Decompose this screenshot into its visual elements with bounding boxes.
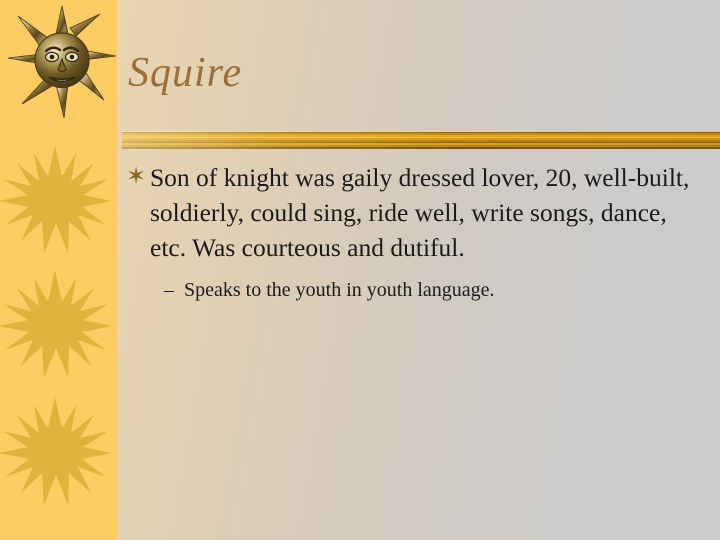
six-point-star-bullet-icon: ✶ [126, 160, 150, 195]
presentation-slide: Squire ✶ Son of knight was gaily dressed… [0, 0, 720, 540]
sub-bullet-item: – Speaks to the youth in youth language. [126, 275, 706, 305]
slide-title: Squire [128, 42, 688, 104]
sun-watermark-icon [0, 133, 117, 263]
sun-face-icon [6, 4, 118, 120]
sun-watermark-icon [0, 385, 117, 515]
sun-watermark-icon [0, 258, 117, 388]
slide-body: ✶ Son of knight was gaily dressed lover,… [126, 160, 706, 305]
sub-bullet-text: Speaks to the youth in youth language. [184, 275, 706, 305]
gold-divider-bar [122, 131, 720, 149]
en-dash-bullet-icon: – [164, 275, 184, 305]
bullet-item: ✶ Son of knight was gaily dressed lover,… [126, 160, 706, 265]
bullet-text: Son of knight was gaily dressed lover, 2… [150, 160, 706, 265]
